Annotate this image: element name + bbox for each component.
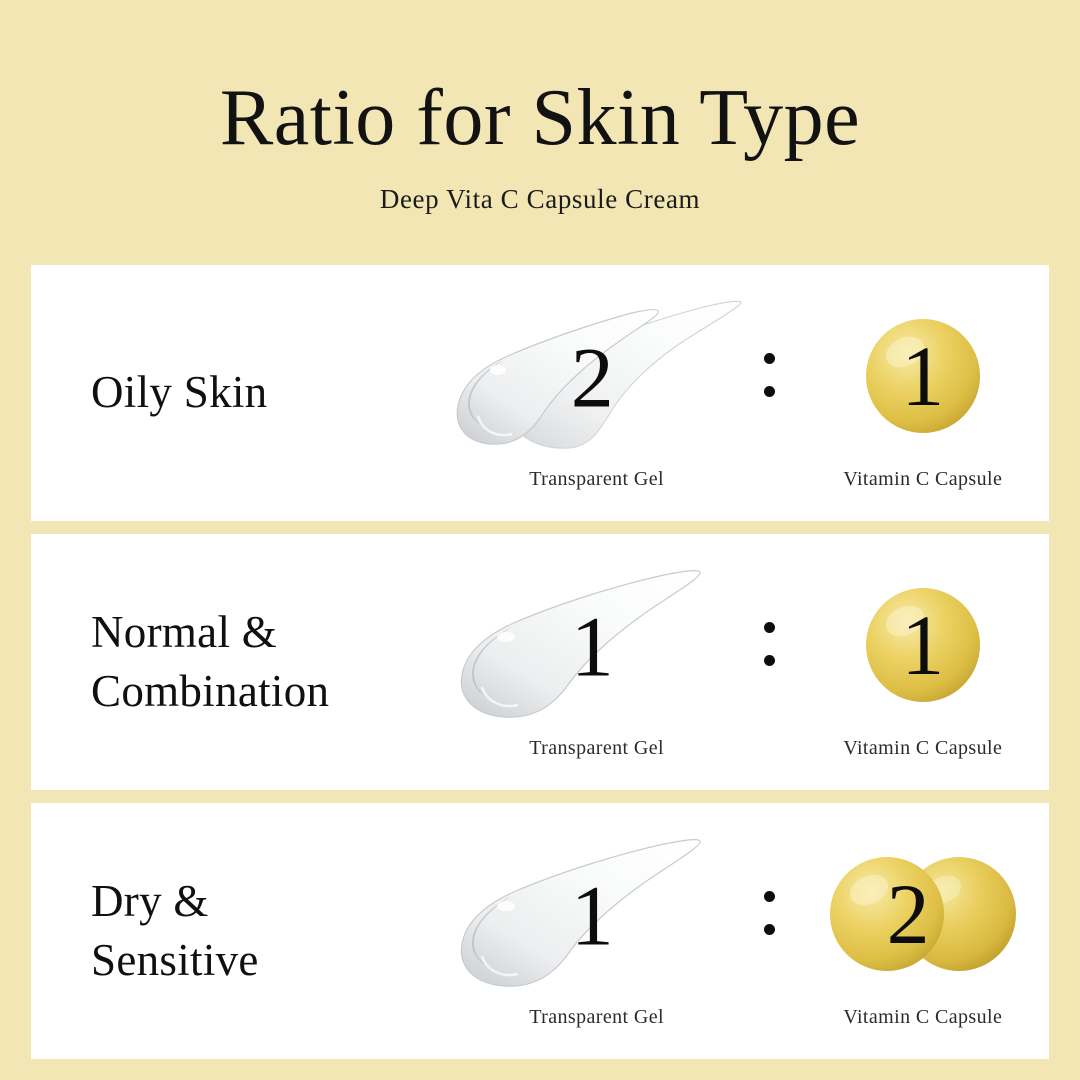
ratio-row-oily-skin: Oily Skin <box>31 265 1049 521</box>
ingredient-transparent-gel: 2 Transparent Gel <box>451 296 742 491</box>
capsule-visual: 1 <box>797 565 1049 725</box>
ratio-card-stack: Oily Skin <box>31 265 1049 1059</box>
gel-visual: 2 <box>451 296 742 456</box>
skin-type-line-2: Combination <box>91 662 451 721</box>
colon-dot-top <box>764 622 775 633</box>
colon-dot-top <box>764 353 775 364</box>
skin-type-line-1: Oily Skin <box>91 363 451 422</box>
skin-type-line-1: Normal & <box>91 603 451 662</box>
page-title: Ratio for Skin Type <box>0 78 1080 158</box>
page-subtitle: Deep Vita C Capsule Cream <box>0 184 1080 215</box>
gel-blob-icon <box>452 567 742 722</box>
ratio-area: 2 Transparent Gel <box>451 265 1049 521</box>
ratio-separator <box>742 891 796 935</box>
skin-type-label: Oily Skin <box>91 265 451 521</box>
skin-type-label: Normal & Combination <box>91 534 451 790</box>
ratio-row-normal-combination: Normal & Combination <box>31 534 1049 790</box>
skin-type-line-2: Sensitive <box>91 931 451 990</box>
skin-type-label: Dry & Sensitive <box>91 803 451 1059</box>
capsule-visual: 1 <box>797 296 1049 456</box>
colon-dot-bottom <box>764 924 775 935</box>
ratio-row-dry-sensitive: Dry & Sensitive <box>31 803 1049 1059</box>
ingredient-transparent-gel: 1 Transparent Gel <box>451 565 742 760</box>
colon-dot-bottom <box>764 655 775 666</box>
ratio-separator <box>742 353 796 397</box>
gel-blob-icon <box>452 836 742 991</box>
gel-blob-icon <box>452 298 742 453</box>
capsule-icon <box>823 570 1023 720</box>
ingredient-vitamin-c-capsule: 2 Vitamin C Capsule <box>797 834 1049 1029</box>
capsule-visual: 2 <box>797 834 1049 994</box>
gel-caption: Transparent Gel <box>529 737 664 760</box>
gel-visual: 1 <box>451 834 742 994</box>
ratio-area: 1 Transparent Gel <box>451 803 1049 1059</box>
gel-caption: Transparent Gel <box>529 1006 664 1029</box>
capsule-caption: Vitamin C Capsule <box>843 737 1002 760</box>
ratio-separator <box>742 622 796 666</box>
skin-type-line-1: Dry & <box>91 872 451 931</box>
gel-caption: Transparent Gel <box>529 468 664 491</box>
ratio-area: 1 Transparent Gel <box>451 534 1049 790</box>
capsule-caption: Vitamin C Capsule <box>843 1006 1002 1029</box>
ingredient-transparent-gel: 1 Transparent Gel <box>451 834 742 1029</box>
ingredient-vitamin-c-capsule: 1 Vitamin C Capsule <box>797 296 1049 491</box>
colon-dot-top <box>764 891 775 902</box>
gel-visual: 1 <box>451 565 742 725</box>
colon-dot-bottom <box>764 386 775 397</box>
capsule-icon <box>823 839 1023 989</box>
capsule-icon <box>823 301 1023 451</box>
page-header: Ratio for Skin Type Deep Vita C Capsule … <box>0 0 1080 215</box>
ingredient-vitamin-c-capsule: 1 Vitamin C Capsule <box>797 565 1049 760</box>
capsule-caption: Vitamin C Capsule <box>843 468 1002 491</box>
